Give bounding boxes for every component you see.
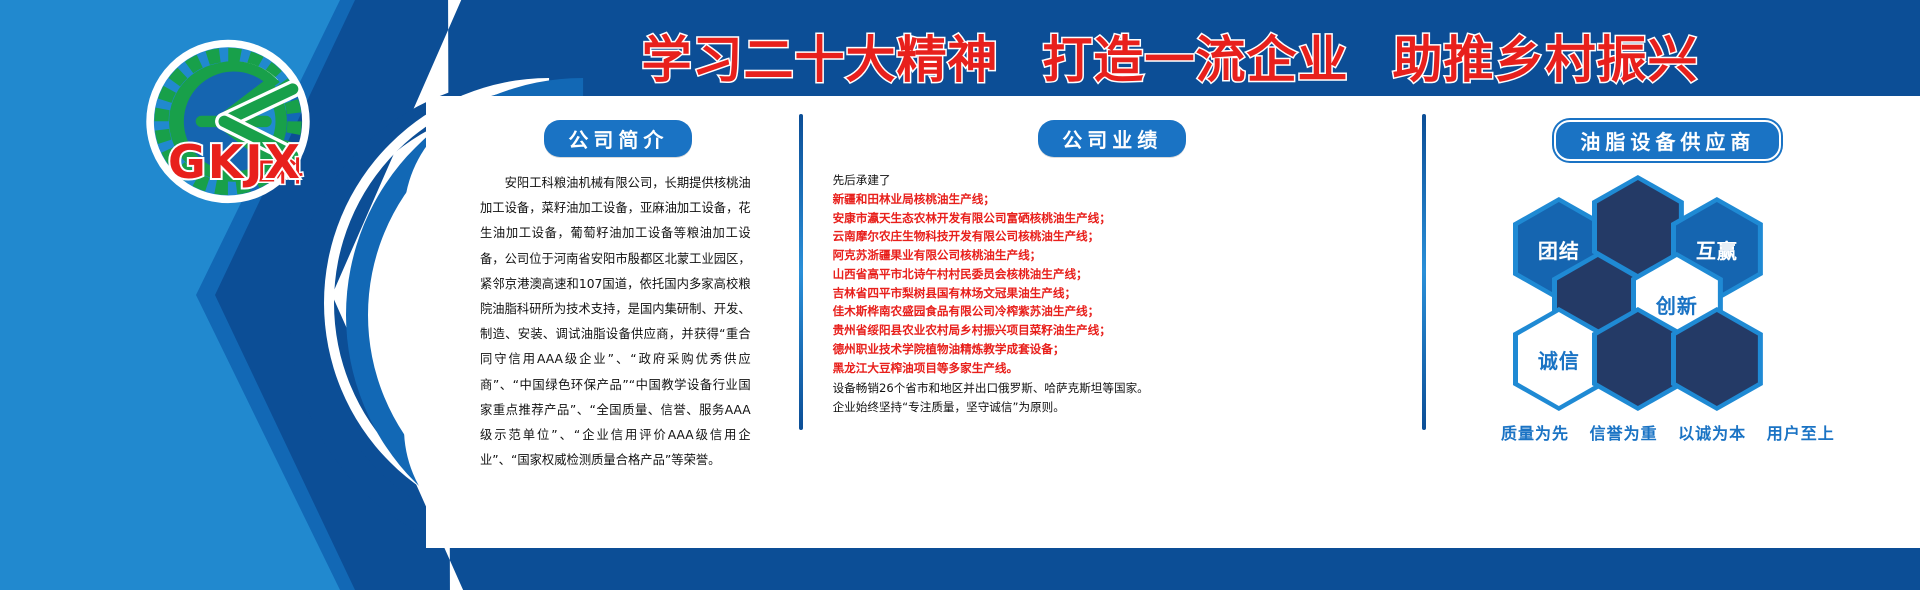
performance-lead: 先后承建了 bbox=[833, 171, 1390, 190]
panel-divider-1 bbox=[799, 114, 803, 430]
performance-item: 贵州省绥阳县农业农村局乡村振兴项目菜籽油生产线； bbox=[833, 321, 1390, 340]
poster-headline: 学习二十大精神 打造一流企业 助推乡村振兴 bbox=[440, 18, 1900, 93]
hex-label: 创新 bbox=[1656, 290, 1698, 319]
performance-footer-line: 企业始终坚持“专注质量，坚守诚信”为原则。 bbox=[833, 398, 1390, 417]
slogan-part: 用户至上 bbox=[1767, 424, 1835, 443]
panel-supplier: 油脂设备供应商 团结 互赢 创新 诚信 bbox=[1436, 108, 1900, 438]
poster-board: 工科 GKJX 学习二十大精神 打造一流企业 助推乡村振兴 公司简介 安阳工科粮… bbox=[0, 0, 1920, 590]
panel-divider-2 bbox=[1422, 114, 1426, 430]
panel-company-performance: 公司业绩 先后承建了 新疆和田林业局核桃油生产线； 安康市瀛天生态农林开发有限公… bbox=[813, 108, 1412, 438]
supplier-hex-cluster: 团结 互赢 创新 诚信 bbox=[1503, 177, 1833, 405]
panels-row: 公司简介 安阳工科粮油机械有限公司，长期提供核桃油加工设备，菜籽油加工设备，亚麻… bbox=[448, 108, 1900, 438]
slogan-part: 信誉为重 bbox=[1590, 424, 1658, 443]
panel-title-company-performance: 公司业绩 bbox=[1038, 120, 1186, 157]
logo-brand-latin: GKJX bbox=[120, 135, 350, 189]
company-logo bbox=[128, 34, 338, 234]
company-profile-body: 安阳工科粮油机械有限公司，长期提供核桃油加工设备，菜籽油加工设备，亚麻油加工设备… bbox=[480, 171, 751, 473]
hex-label: 诚信 bbox=[1538, 345, 1580, 374]
performance-item: 安康市瀛天生态农林开发有限公司富硒核桃油生产线； bbox=[833, 209, 1390, 228]
gear-e-icon bbox=[128, 34, 328, 224]
performance-item: 阿克苏浙疆果业有限公司核桃油生产线； bbox=[833, 246, 1390, 265]
panel-title-supplier: 油脂设备供应商 bbox=[1554, 120, 1781, 161]
hex-label: 互赢 bbox=[1696, 235, 1738, 264]
performance-item: 佳木斯桦南农盛园食品有限公司冷榨紫苏油生产线； bbox=[833, 302, 1390, 321]
supplier-slogan: 质量为先 信誉为重 以诚为本 用户至上 bbox=[1436, 420, 1900, 444]
performance-item: 新疆和田林业局核桃油生产线； bbox=[833, 190, 1390, 209]
headline-part-3: 助推乡村振兴 bbox=[1393, 20, 1699, 92]
logo-brand-latin-wrap: GKJX bbox=[120, 135, 350, 189]
panel-company-profile: 公司简介 安阳工科粮油机械有限公司，长期提供核桃油加工设备，菜籽油加工设备，亚麻… bbox=[448, 108, 789, 438]
performance-list: 先后承建了 新疆和田林业局核桃油生产线； 安康市瀛天生态农林开发有限公司富硒核桃… bbox=[833, 171, 1390, 417]
performance-footer-line: 设备畅销26个省市和地区并出口俄罗斯、哈萨克斯坦等国家。 bbox=[833, 379, 1390, 398]
performance-item: 德州职业技术学院植物油精炼教学成套设备； bbox=[833, 340, 1390, 359]
hex-label: 团结 bbox=[1538, 235, 1580, 264]
headline-part-1: 学习二十大精神 bbox=[642, 20, 999, 92]
performance-item: 山西省高平市北诗午村村民委员会核桃油生产线； bbox=[833, 265, 1390, 284]
performance-item: 黑龙江大豆榨油项目等多家生产线。 bbox=[833, 359, 1390, 378]
headline-part-2: 打造一流企业 bbox=[1043, 20, 1349, 92]
slogan-part: 以诚为本 bbox=[1678, 424, 1746, 443]
panel-title-company-profile: 公司简介 bbox=[544, 120, 692, 157]
slogan-part: 质量为先 bbox=[1501, 424, 1569, 443]
performance-item: 云南摩尔农庄生物科技开发有限公司核桃油生产线； bbox=[833, 227, 1390, 246]
performance-item: 吉林省四平市梨树县国有林场文冠果油生产线； bbox=[833, 284, 1390, 303]
